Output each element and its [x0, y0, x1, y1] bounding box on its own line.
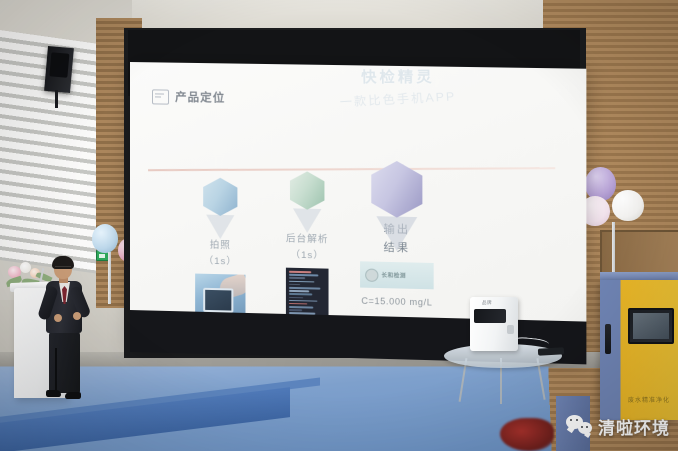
device-display — [474, 309, 506, 323]
black-remote-control — [538, 347, 564, 355]
foreground-red-object — [500, 418, 554, 451]
wechat-dot-3 — [581, 426, 583, 428]
device-knob — [507, 325, 514, 334]
hex-wrap-1 — [172, 177, 269, 237]
presentation-photo-scene: 快检精灵 一款比色手机APP 产品定位 拍照 （1s） — [0, 0, 678, 451]
funnel-shape-3 — [376, 216, 417, 251]
yellow-blue-treatment-machine: 废水精准净化 — [600, 280, 678, 420]
presenter-hand-left — [54, 314, 62, 322]
step-label-capture: 拍照 — [172, 238, 269, 253]
presenter — [40, 258, 92, 404]
slide-section-label: 产品定位 — [175, 89, 225, 106]
deck-subtitle: 一款比色手机APP — [281, 84, 517, 114]
balloon-pole-left — [108, 252, 111, 304]
wechat-dot-4 — [586, 426, 588, 428]
brand-circle-logo — [365, 268, 378, 281]
machine-label: 废水精准净化 — [624, 395, 674, 404]
wechat-icon — [566, 413, 592, 439]
funnel-shape-2 — [293, 208, 321, 233]
hex-icon-analyze — [290, 171, 324, 210]
concentration-readout: C=15.000 mg/L — [344, 295, 450, 308]
slide-step-capture: 拍照 （1s） — [172, 177, 269, 324]
watermark: 清啦环境 — [566, 413, 670, 439]
slide-section-header: 产品定位 — [152, 88, 225, 105]
watermark-text: 清啦环境 — [598, 414, 670, 439]
balloon-blue — [92, 224, 118, 253]
handheld-device-screen — [203, 288, 233, 313]
presenter-glasses-icon — [55, 266, 71, 271]
balloon-white — [612, 190, 644, 221]
step-duration-capture: （1s） — [172, 254, 269, 269]
machine-touchscreen-panel[interactable] — [628, 308, 674, 344]
presenter-leg-gap — [55, 348, 57, 393]
funnel-shape-1 — [206, 215, 234, 240]
presenter-legs — [49, 331, 80, 393]
speaker-mount — [55, 90, 58, 108]
hex-wrap-3 — [344, 160, 450, 221]
presenter-shoe-right — [65, 392, 81, 399]
result-card-brand: 长和检测 — [381, 271, 406, 280]
deck-title: 快检精灵 — [306, 66, 490, 88]
wechat-bubble-small — [578, 422, 592, 434]
hex-icon-output — [371, 161, 422, 219]
slide-step-output: 输出 结果 长和检测 C=15.000 mg/L — [344, 160, 450, 308]
ceiling-speaker-icon — [44, 46, 74, 93]
machine-door-handle[interactable] — [605, 324, 611, 354]
presenter-shoe-left — [46, 390, 61, 397]
hex-icon-capture — [203, 177, 237, 216]
device-brand-label: 品牌 — [482, 300, 492, 306]
slide-section-icon — [152, 89, 169, 104]
presenter-hand-right — [73, 312, 81, 320]
white-benchtop-analyzer: 品牌 — [470, 297, 518, 351]
result-card: 长和检测 — [360, 261, 434, 289]
